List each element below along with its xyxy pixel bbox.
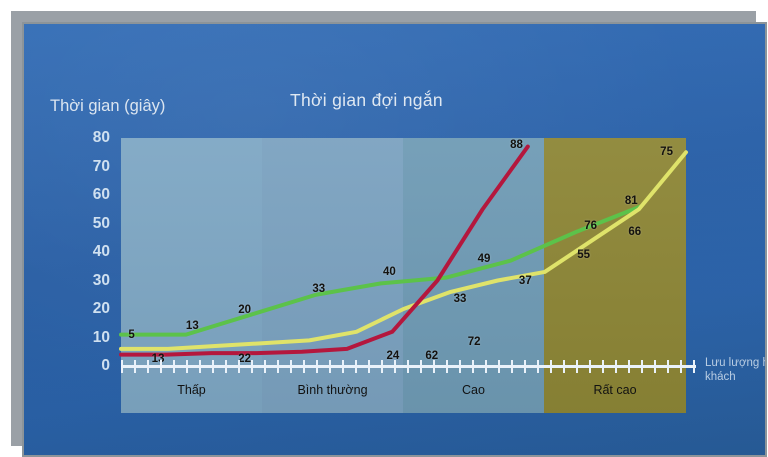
x-axis-tick bbox=[641, 360, 643, 373]
x-axis-tick bbox=[498, 360, 500, 373]
y-axis-tick-60: 60 bbox=[48, 186, 110, 204]
point-label-green-5: 5 bbox=[128, 329, 134, 341]
x-axis-tick bbox=[134, 360, 136, 373]
slide-frame: Thời gian đợi ngắn Thời gian (giây) Lưu … bbox=[0, 0, 768, 456]
x-axis-tick bbox=[589, 360, 591, 373]
x-axis-tick bbox=[225, 360, 227, 373]
point-label-yellow-33: 33 bbox=[454, 293, 467, 305]
x-axis-tick bbox=[264, 360, 266, 373]
x-axis-tick bbox=[381, 360, 383, 373]
x-axis-tick bbox=[355, 360, 357, 373]
point-label-green-76: 76 bbox=[584, 220, 597, 232]
x-axis-tick bbox=[628, 360, 630, 373]
x-axis-tick bbox=[654, 360, 656, 373]
point-label-red-88: 88 bbox=[510, 139, 523, 151]
x-axis-tick bbox=[368, 360, 370, 373]
x-axis-tick bbox=[251, 360, 253, 373]
point-label-yellow-66: 66 bbox=[628, 226, 641, 238]
point-label-green-13: 13 bbox=[186, 320, 199, 332]
x-axis-tick bbox=[537, 360, 539, 373]
point-label-green-49: 49 bbox=[478, 253, 491, 265]
category-label-normal: Bình thường bbox=[262, 383, 403, 397]
x-axis-tick bbox=[459, 360, 461, 373]
x-axis-tick bbox=[550, 360, 552, 373]
point-label-green-81: 81 bbox=[625, 195, 638, 207]
y-axis-tick-10: 10 bbox=[48, 329, 110, 347]
x-axis-tick bbox=[329, 360, 331, 373]
x-axis-tick bbox=[212, 360, 214, 373]
x-axis-tick bbox=[186, 360, 188, 373]
point-label-yellow-37: 37 bbox=[519, 275, 532, 287]
category-label-very-high: Rất cao bbox=[544, 383, 686, 397]
x-axis-tick bbox=[342, 360, 344, 373]
x-axis-tick bbox=[394, 360, 396, 373]
y-axis-tick-80: 80 bbox=[48, 129, 110, 147]
x-axis-tick bbox=[667, 360, 669, 373]
category-label-low: Thấp bbox=[121, 383, 262, 397]
x-axis-tick bbox=[121, 360, 123, 373]
x-axis-tick bbox=[472, 360, 474, 373]
y-axis-tick-40: 40 bbox=[48, 243, 110, 261]
x-axis-title: Lưu lượng hành khách bbox=[705, 356, 767, 384]
x-axis-tick bbox=[680, 360, 682, 373]
slide-canvas: Thời gian đợi ngắn Thời gian (giây) Lưu … bbox=[22, 22, 767, 457]
x-axis-tick bbox=[693, 360, 695, 373]
x-axis-tick bbox=[524, 360, 526, 373]
x-axis-tick bbox=[147, 360, 149, 373]
point-label-yellow-75: 75 bbox=[660, 146, 673, 158]
chart-title: Thời gian đợi ngắn bbox=[290, 90, 443, 111]
x-axis-tick-marks bbox=[121, 360, 696, 373]
category-strip: Thấp Bình thường Cao Rất cao bbox=[121, 373, 686, 413]
x-axis-tick bbox=[199, 360, 201, 373]
x-axis-tick bbox=[563, 360, 565, 373]
point-label-green-40: 40 bbox=[383, 266, 396, 278]
x-axis-tick bbox=[160, 360, 162, 373]
point-label-green-20: 20 bbox=[238, 304, 251, 316]
x-axis-tick bbox=[433, 360, 435, 373]
y-axis-tick-30: 30 bbox=[48, 272, 110, 290]
x-axis-tick bbox=[511, 360, 513, 373]
x-axis-tick bbox=[485, 360, 487, 373]
y-axis-title: Thời gian (giây) bbox=[50, 97, 165, 116]
y-axis-tick-0: 0 bbox=[48, 357, 110, 375]
x-axis-tick bbox=[303, 360, 305, 373]
x-axis-tick bbox=[173, 360, 175, 373]
x-axis-tick bbox=[407, 360, 409, 373]
y-axis-tick-20: 20 bbox=[48, 300, 110, 318]
point-label-green-33: 33 bbox=[312, 283, 325, 295]
x-axis-tick bbox=[238, 360, 240, 373]
x-axis-tick bbox=[277, 360, 279, 373]
point-label-red-72: 72 bbox=[468, 336, 481, 348]
x-axis-tick bbox=[316, 360, 318, 373]
x-axis-tick bbox=[290, 360, 292, 373]
y-axis-tick-labels: 80706050403020100 bbox=[48, 130, 110, 375]
x-axis-tick bbox=[615, 360, 617, 373]
point-label-yellow-55: 55 bbox=[577, 249, 590, 261]
y-axis-tick-70: 70 bbox=[48, 158, 110, 176]
y-axis-tick-50: 50 bbox=[48, 215, 110, 233]
data-point-labels: 5132033404976813337556675132224627288 bbox=[121, 138, 686, 366]
x-axis-tick bbox=[420, 360, 422, 373]
x-axis-tick bbox=[446, 360, 448, 373]
x-axis-tick bbox=[602, 360, 604, 373]
category-label-high: Cao bbox=[403, 383, 544, 397]
x-axis-tick bbox=[576, 360, 578, 373]
